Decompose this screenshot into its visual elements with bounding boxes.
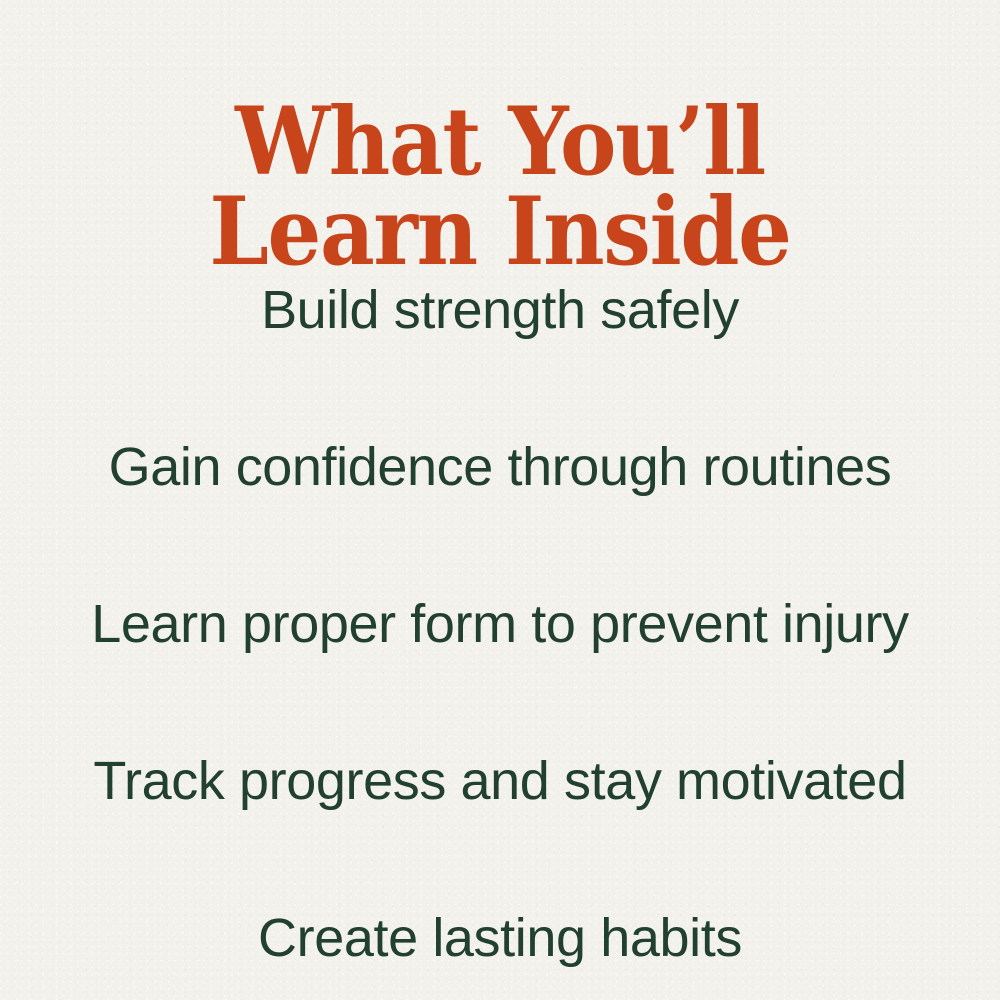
list-item: Gain confidence through routines: [0, 389, 1000, 546]
list-item: Build strength safely: [0, 232, 1000, 389]
list-item: Learn proper form to prevent injury: [0, 546, 1000, 703]
benefit-list: Build strength safely Gain confidence th…: [0, 232, 1000, 1000]
list-item: Create lasting habits: [0, 860, 1000, 1000]
list-item: Track progress and stay motivated: [0, 703, 1000, 860]
promo-poster: What You’ll Learn Inside Build strength …: [0, 0, 1000, 1000]
page-title-line-1: What You’ll: [50, 97, 950, 187]
